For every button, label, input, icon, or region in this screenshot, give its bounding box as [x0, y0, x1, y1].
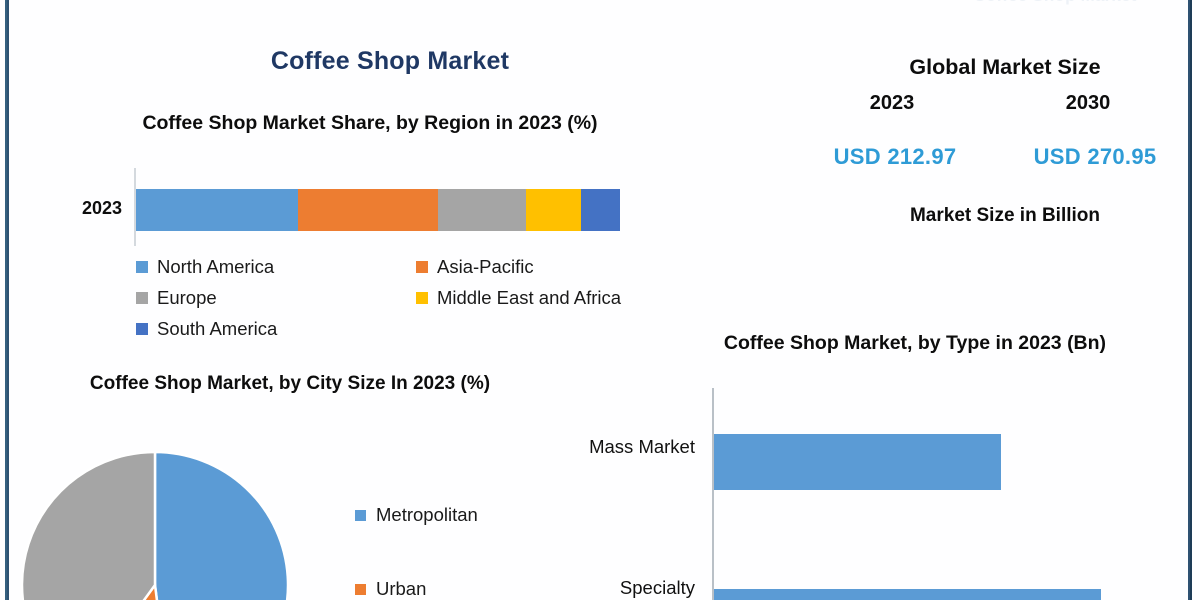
legend-swatch-icon — [416, 261, 428, 273]
type-chart-bar-specialty — [714, 589, 1101, 600]
legend-swatch-icon — [416, 292, 428, 304]
pie-slice-metropolitan — [155, 452, 288, 600]
infographic-canvas: Coffee Shop Market Coffee Shop Market Co… — [0, 0, 1200, 600]
global-market-size-year-2030: 2030 — [1013, 92, 1163, 115]
region-legend-label: Middle East and Africa — [437, 287, 621, 309]
region-bar-segment-middle-east-and-africa — [526, 189, 581, 231]
legend-swatch-icon — [355, 584, 366, 595]
region-legend-item: Asia-Pacific — [416, 251, 696, 282]
region-legend-label: South America — [157, 318, 277, 340]
region-legend-item: South America — [136, 313, 416, 344]
region-legend-item: North America — [136, 251, 416, 282]
city-size-legend-item: Metropolitan — [355, 478, 565, 552]
city-size-legend-item: Urban — [355, 552, 565, 600]
type-chart-category-specialty: Specialty — [575, 577, 695, 599]
type-chart-category-mass-market: Mass Market — [575, 436, 695, 458]
region-stacked-bar — [136, 189, 620, 231]
legend-swatch-icon — [136, 323, 148, 335]
region-legend-label: Asia-Pacific — [437, 256, 534, 278]
type-chart-title: Coffee Shop Market, by Type in 2023 (Bn) — [645, 332, 1185, 356]
city-size-legend-label: Metropolitan — [376, 504, 478, 526]
global-market-size-footnote: Market Size in Billion — [820, 205, 1190, 227]
region-bar-segment-europe — [438, 189, 526, 231]
legend-swatch-icon — [355, 510, 366, 521]
region-chart-title: Coffee Shop Market Share, by Region in 2… — [100, 112, 640, 136]
city-size-legend-label: Urban — [376, 578, 426, 600]
type-chart-axis — [712, 388, 714, 600]
city-size-pie-chart — [20, 450, 290, 600]
page-title: Coffee Shop Market — [180, 47, 600, 76]
frame-border-right-highlight — [1190, 0, 1192, 600]
region-legend-label: North America — [157, 256, 274, 278]
pie-slice-suburban — [22, 452, 155, 600]
global-market-size-title: Global Market Size — [820, 55, 1190, 80]
clipped-top-text: Coffee Shop Market — [935, 0, 1175, 8]
region-chart-category-label: 2023 — [30, 198, 122, 219]
region-bar-segment-south-america — [581, 189, 620, 231]
region-chart-legend: North AmericaAsia-PacificEuropeMiddle Ea… — [136, 251, 696, 344]
global-market-size-value-2023: USD 212.97 — [800, 144, 990, 170]
region-legend-label: Europe — [157, 287, 217, 309]
region-bar-segment-asia-pacific — [298, 189, 438, 231]
type-chart-bar-mass-market — [714, 434, 1001, 490]
global-market-size-value-2030: USD 270.95 — [1000, 144, 1190, 170]
city-size-chart-title: Coffee Shop Market, by City Size In 2023… — [10, 372, 570, 395]
region-legend-item: Europe — [136, 282, 416, 313]
legend-swatch-icon — [136, 292, 148, 304]
region-bar-segment-north-america — [136, 189, 298, 231]
global-market-size-year-2023: 2023 — [817, 92, 967, 115]
region-legend-item: Middle East and Africa — [416, 282, 696, 313]
city-size-pie-wrapper — [20, 450, 300, 600]
frame-border-left-highlight — [5, 0, 7, 600]
city-size-chart-legend: MetropolitanUrban — [355, 478, 565, 600]
legend-swatch-icon — [136, 261, 148, 273]
